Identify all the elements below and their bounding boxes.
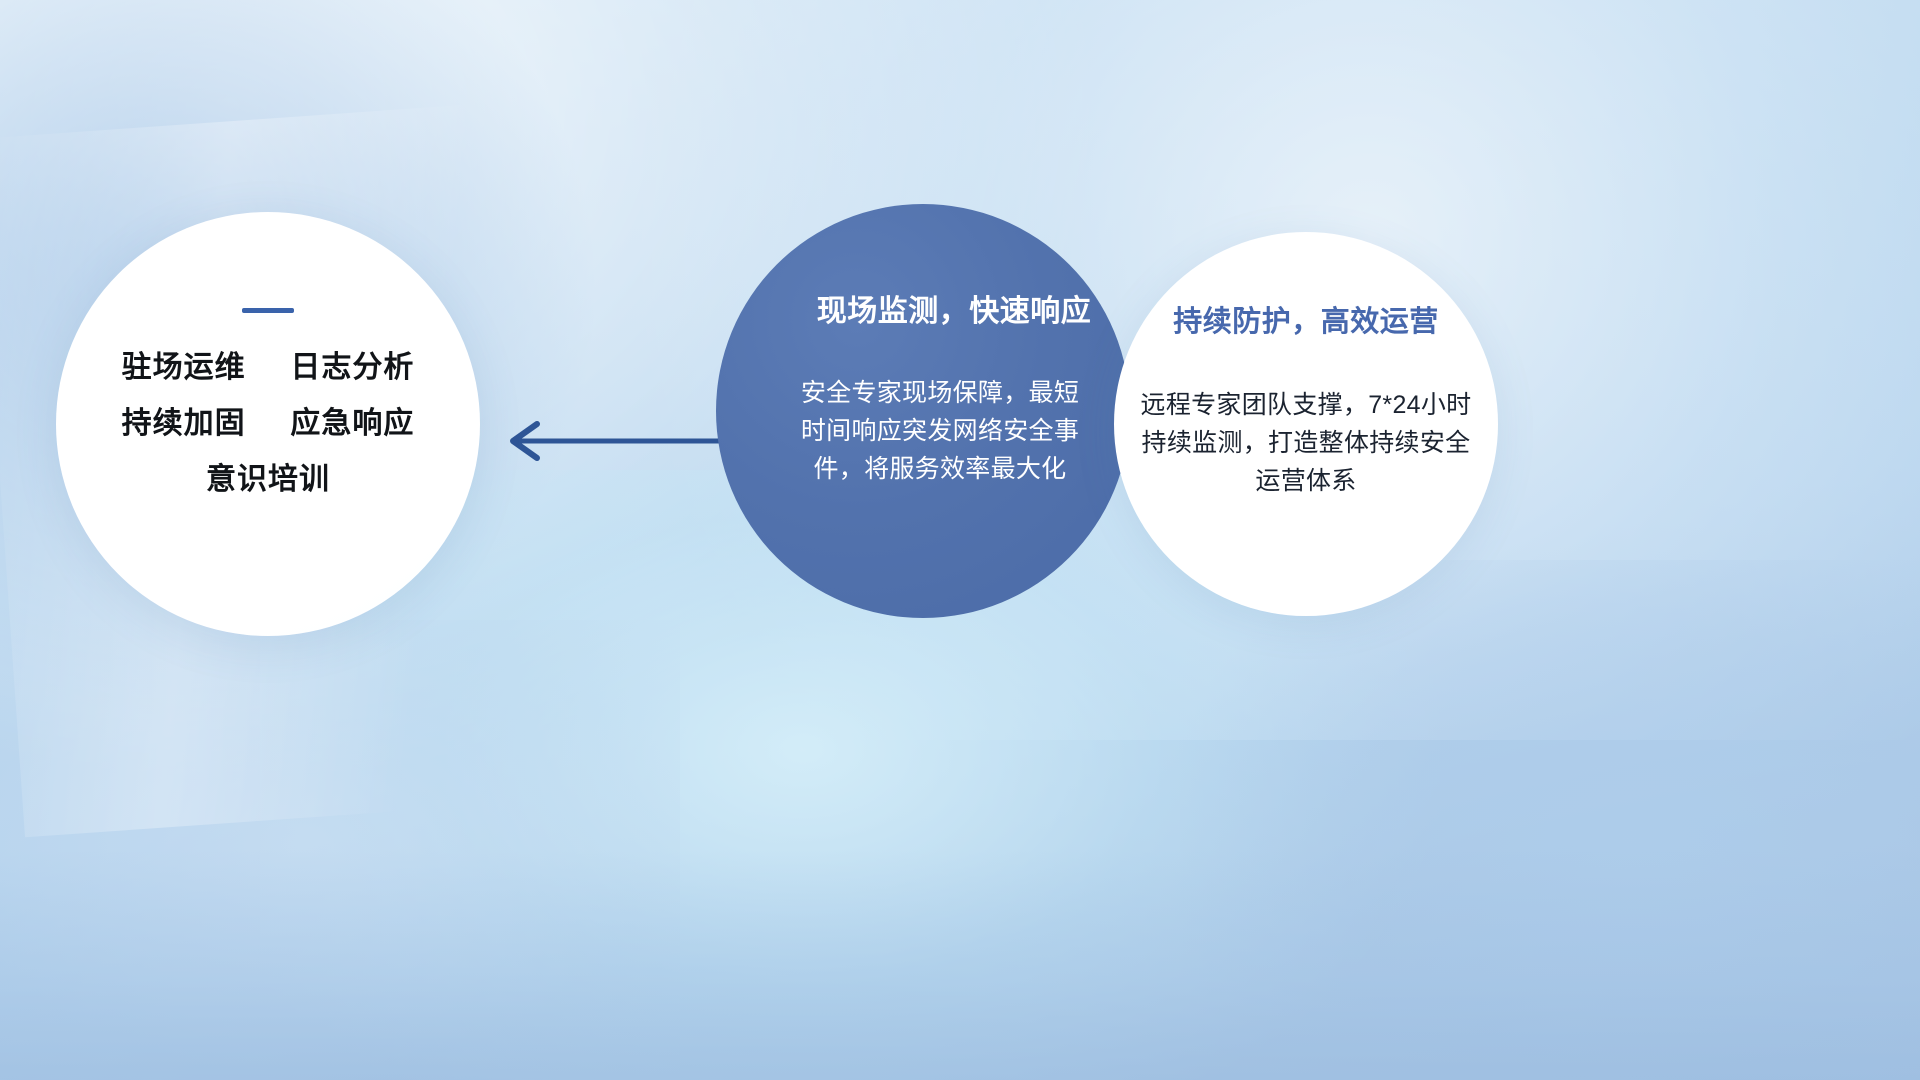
right-circle-body: 远程专家团队支撑，7*24小时持续监测，打造整体持续安全运营体系 <box>1131 386 1481 500</box>
left-circle-line-1-right: 日志分析 <box>290 351 414 384</box>
left-circle-line-2-left: 持续加固 <box>122 407 246 440</box>
left-circle-line-1-left: 驻场运维 <box>122 351 246 384</box>
left-circle-divider <box>242 308 294 313</box>
background-bottom-band <box>0 850 1920 1080</box>
left-circle-line-1: 驻场运维 日志分析 <box>122 353 415 383</box>
middle-circle-content: 现场监测，快速响应 安全专家现场保障，最短时间响应突发网络安全事件，将服务效率最… <box>716 204 1130 618</box>
left-circle-line-3-left: 意识培训 <box>206 463 330 496</box>
capability-circle-left: 驻场运维 日志分析 持续加固 应急响应 意识培训 <box>56 212 480 636</box>
left-circle-line-2: 持续加固 应急响应 <box>122 409 415 439</box>
capability-circle-middle: 现场监测，快速响应 安全专家现场保障，最短时间响应突发网络安全事件，将服务效率最… <box>716 204 1130 618</box>
middle-circle-title: 现场监测，快速响应 <box>817 286 1092 330</box>
middle-circle-body: 安全专家现场保障，最短时间响应突发网络安全事件，将服务效率最大化 <box>790 374 1090 488</box>
right-circle-title: 持续防护，高效运营 <box>1173 298 1439 340</box>
capability-circle-right: 持续防护，高效运营 远程专家团队支撑，7*24小时持续监测，打造整体持续安全运营… <box>1114 232 1498 616</box>
left-circle-line-2-right: 应急响应 <box>290 407 414 440</box>
left-circle-line-3: 意识培训 <box>206 465 330 495</box>
